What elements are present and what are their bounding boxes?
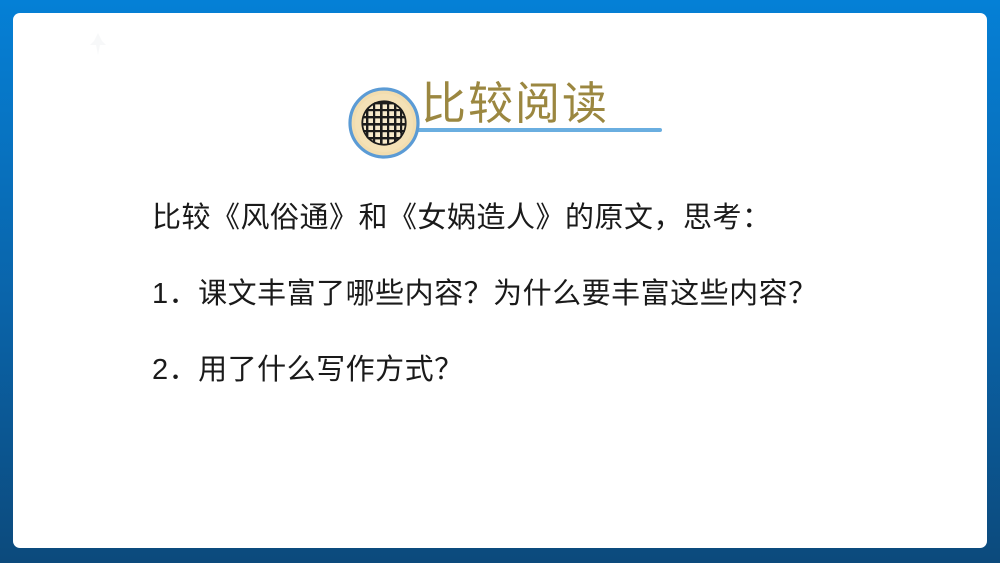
slide-body: 比较《风俗通》和《女娲造人》的原文，思考： 1．课文丰富了哪些内容？为什么要丰富… xyxy=(152,198,912,390)
slide-title-block: 比较阅读 xyxy=(348,75,768,161)
page-title: 比较阅读 xyxy=(421,75,609,133)
body-line-prompt: 比较《风俗通》和《女娲造人》的原文，思考： xyxy=(152,198,912,238)
body-line-question-2: 2．用了什么写作方式？ xyxy=(152,350,912,390)
slide-canvas: 比较阅读 比较《风俗通》和《女娲造人》的原文，思考： 1．课文丰富了哪些内容？为… xyxy=(13,13,987,548)
watermark-speck-icon xyxy=(87,31,109,57)
body-line-question-1: 1．课文丰富了哪些内容？为什么要丰富这些内容？ xyxy=(152,274,912,314)
presentation-slide: 比较阅读 比较《风俗通》和《女娲造人》的原文，思考： 1．课文丰富了哪些内容？为… xyxy=(0,0,1000,563)
chinese-seal-icon xyxy=(348,87,420,159)
